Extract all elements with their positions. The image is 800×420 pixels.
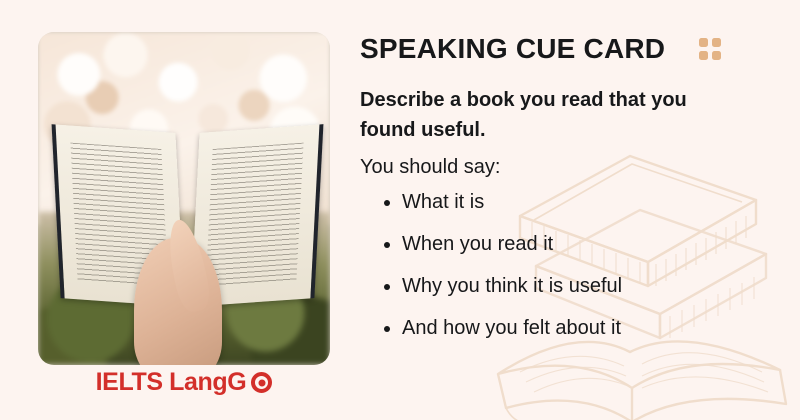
target-bullseye-o-icon [251,372,272,393]
page-title: SPEAKING CUE CARD [360,34,665,65]
brand-logo: IELTS LangG [38,370,330,395]
page-text-lines [206,142,304,288]
cue-card-bullet-list: What it is When you read it Why you thin… [360,191,776,339]
grid-dot [712,51,721,60]
logo-text: IELTS LangG [96,370,247,395]
list-item: What it is [360,191,776,213]
four-dots-grid-icon [699,38,721,60]
list-item: When you read it [360,233,776,255]
photo-column [38,32,330,365]
speaking-cue-card: IELTS LangG SPEAKING CUE CARD Describe a… [0,0,800,420]
grid-dot [699,38,708,47]
book-photo [38,32,330,365]
cue-card-prompt: Describe a book you read that you found … [360,85,738,146]
grid-dot [712,38,721,47]
cue-card-instruction: You should say: [360,152,776,182]
list-item: Why you think it is useful [360,275,776,297]
title-row: SPEAKING CUE CARD [360,34,776,65]
cue-card-content: SPEAKING CUE CARD Describe a book you re… [360,34,776,390]
grid-dot [699,51,708,60]
list-item: And how you felt about it [360,317,776,339]
